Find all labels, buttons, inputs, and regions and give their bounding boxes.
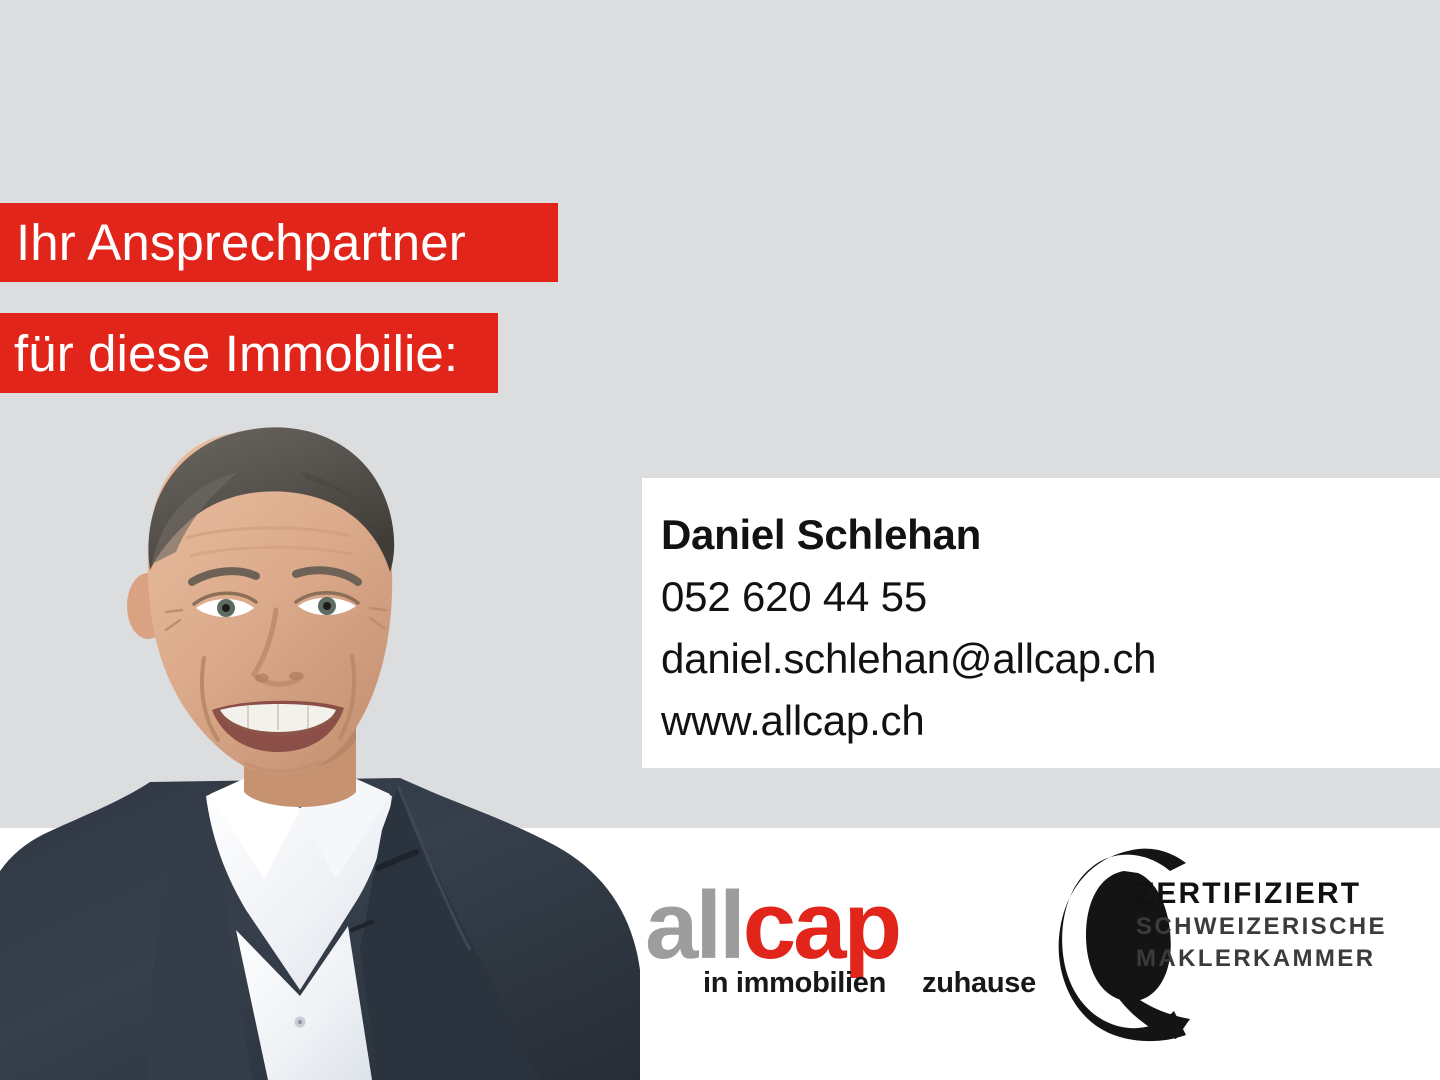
- allcap-tagline-left: in immobilien: [703, 967, 886, 999]
- allcap-tagline: in immobilienzuhause: [703, 967, 1036, 1000]
- headline-text-line1: Ihr Ansprechpartner: [16, 213, 466, 272]
- contact-phone[interactable]: 052 620 44 55: [661, 566, 1440, 628]
- contact-email[interactable]: daniel.schlehan@allcap.ch: [661, 628, 1440, 690]
- headline-text-line2: für diese Immobilie:: [14, 324, 458, 383]
- certification-line-1: ZERTIFIZIERT: [1136, 877, 1388, 911]
- contact-card: Daniel Schlehan 052 620 44 55 daniel.sch…: [642, 478, 1440, 768]
- contact-slide: Ihr Ansprechpartner für diese Immobilie:: [0, 0, 1440, 1080]
- allcap-tagline-right: zuhause: [922, 967, 1036, 999]
- agent-portrait-photo: [0, 410, 640, 1080]
- certification-text: ZERTIFIZIERT SCHWEIZERISCHE MAKLERKAMMER: [1136, 877, 1388, 975]
- contact-name: Daniel Schlehan: [661, 504, 1440, 566]
- allcap-wordmark-all: all: [645, 872, 743, 979]
- certification-line-3: MAKLERKAMMER: [1136, 943, 1388, 975]
- headline-banner-line1: Ihr Ansprechpartner: [0, 203, 558, 282]
- allcap-logo[interactable]: allcap in immobilienzuhause: [645, 878, 1030, 1008]
- allcap-wordmark: allcap: [645, 878, 899, 974]
- headline-banner-line2: für diese Immobilie:: [0, 313, 498, 393]
- allcap-wordmark-cap: cap: [743, 872, 899, 979]
- certification-badge: ZERTIFIZIERT SCHWEIZERISCHE MAKLERKAMMER: [1058, 845, 1388, 1055]
- certification-line-2: SCHWEIZERISCHE: [1136, 911, 1388, 943]
- contact-website[interactable]: www.allcap.ch: [661, 690, 1440, 752]
